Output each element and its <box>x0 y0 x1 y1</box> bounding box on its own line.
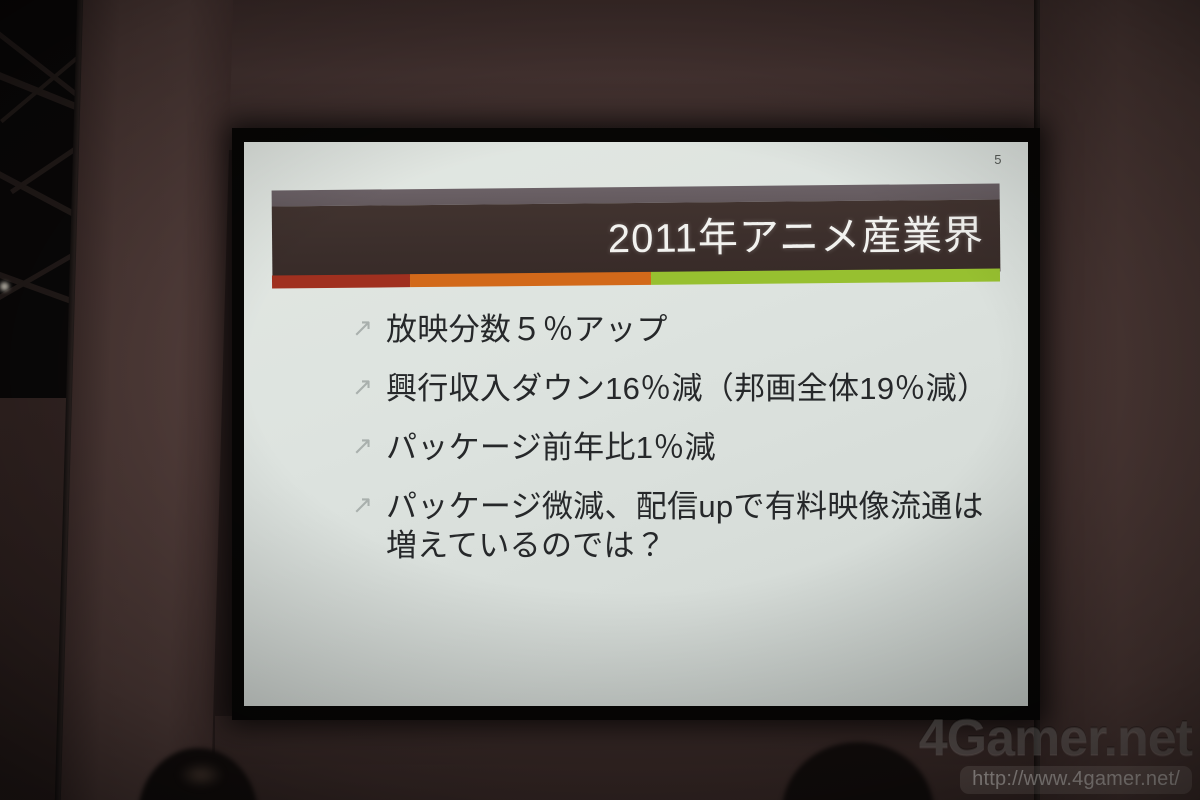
accent-rule-segment-green <box>650 269 1000 285</box>
slide-bullet: ↗パッケージ微減、配信upで有料映像流通は増えているのでは？ <box>352 487 1012 565</box>
presentation-slide: 5 2011年アニメ産業界 ↗放映分数５％アップ↗興行収入ダウン16％減（邦画全… <box>244 142 1028 706</box>
slide-bullet-list: ↗放映分数５％アップ↗興行収入ダウン16％減（邦画全体19％減）↗パッケージ前年… <box>352 310 1012 585</box>
accent-rule-segment-red <box>272 274 410 288</box>
arrow-up-right-icon: ↗ <box>352 369 386 400</box>
slide-bullet: ↗放映分数５％アップ <box>352 310 1012 349</box>
slide-page-number: 5 <box>994 152 1002 167</box>
slide-bullet-text: 興行収入ダウン16％減（邦画全体19％減） <box>386 369 1012 408</box>
arrow-up-right-icon: ↗ <box>352 487 386 518</box>
projection-screen-bezel: 5 2011年アニメ産業界 ↗放映分数５％アップ↗興行収入ダウン16％減（邦画全… <box>232 128 1040 720</box>
slide-bullet: ↗興行収入ダウン16％減（邦画全体19％減） <box>352 369 1012 408</box>
accent-rule-segment-orange <box>410 272 650 287</box>
slide-bullet-text: 放映分数５％アップ <box>386 310 1012 349</box>
wall-pillar-left <box>60 0 233 800</box>
slide-title: 2011年アニメ産業界 <box>608 216 1001 260</box>
photo-canvas: 5 2011年アニメ産業界 ↗放映分数５％アップ↗興行収入ダウン16％減（邦画全… <box>0 0 1200 800</box>
arrow-up-right-icon: ↗ <box>352 428 386 459</box>
slide-title-band: 2011年アニメ産業界 <box>272 184 1001 279</box>
slide-bullet-text: パッケージ微減、配信upで有料映像流通は増えているのでは？ <box>386 487 1012 565</box>
wall-panel-right <box>1040 0 1200 800</box>
audience-head-left-highlight <box>178 762 224 788</box>
slide-bullet-text: パッケージ前年比1％減 <box>386 428 1012 467</box>
title-band-body: 2011年アニメ産業界 <box>272 200 1001 279</box>
slide-bullet: ↗パッケージ前年比1％減 <box>352 428 1012 467</box>
arrow-up-right-icon: ↗ <box>352 310 386 341</box>
